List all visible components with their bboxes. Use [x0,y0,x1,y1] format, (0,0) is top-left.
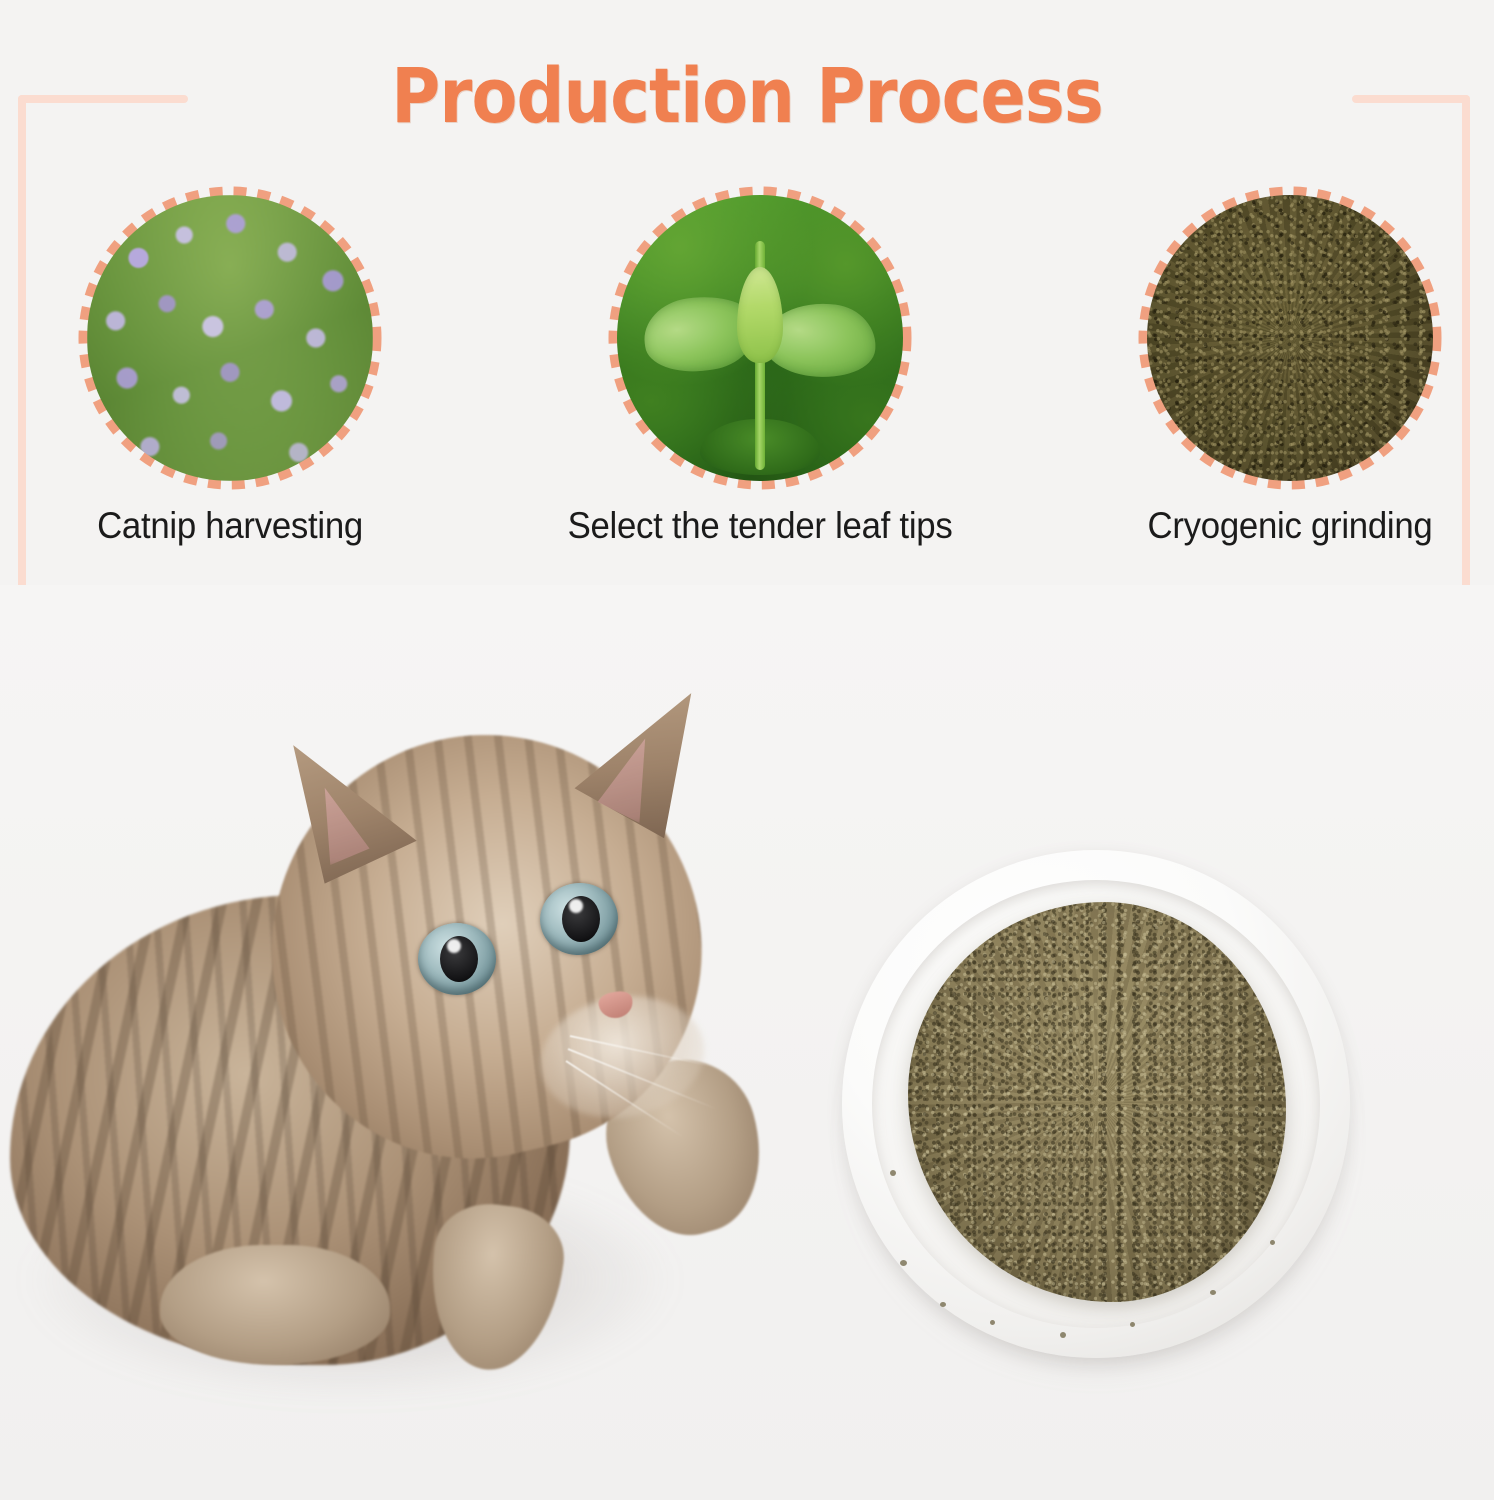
step-label-1: Catnip harvesting [33,505,428,547]
kitten-right-eye-glint [569,899,583,913]
step-photo-2 [617,195,903,481]
powder-speck [1270,1240,1275,1245]
process-step-catnip-harvesting: Catnip harvesting [20,195,440,547]
tender-leaf-tip-shape [737,267,783,363]
powder-speck [990,1320,995,1325]
powder-speck [900,1260,907,1266]
step-photo-1 [87,195,373,481]
step-image-wrap-3 [1147,195,1433,481]
hero-photo-band [0,585,1494,1500]
powder-speck [940,1302,946,1307]
powder-speck [1210,1290,1216,1295]
kitten-left-eye-glint [447,939,461,953]
catnip-field-in-bloom-image [87,195,373,481]
step-image-wrap-2 [617,195,903,481]
kitten-front-paw [160,1245,390,1365]
infographic-page: Production Process Catnip harvesting [0,0,1494,1500]
powder-speck [1130,1322,1135,1327]
step-photo-3 [1147,195,1433,481]
step-image-wrap-1 [87,195,373,481]
tabby-kitten-image [10,605,770,1395]
process-step-cryogenic-grinding: Cryogenic grinding [1080,195,1494,547]
page-title: Production Process [90,58,1405,134]
process-steps: Catnip harvesting [0,195,1494,565]
catnip-tender-leaf-tips-image [617,195,903,481]
powder-speck [890,1170,896,1176]
powder-speck [922,1090,927,1095]
process-step-select-leaf-tips: Select the tender leaf tips [550,195,970,547]
white-dish-with-catnip-powder-image [830,840,1362,1372]
ground-catnip-powder-image [1147,195,1433,481]
powder-speck [1060,1332,1066,1338]
step-label-3: Cryogenic grinding [1093,505,1488,547]
step-label-2: Select the tender leaf tips [563,505,958,547]
